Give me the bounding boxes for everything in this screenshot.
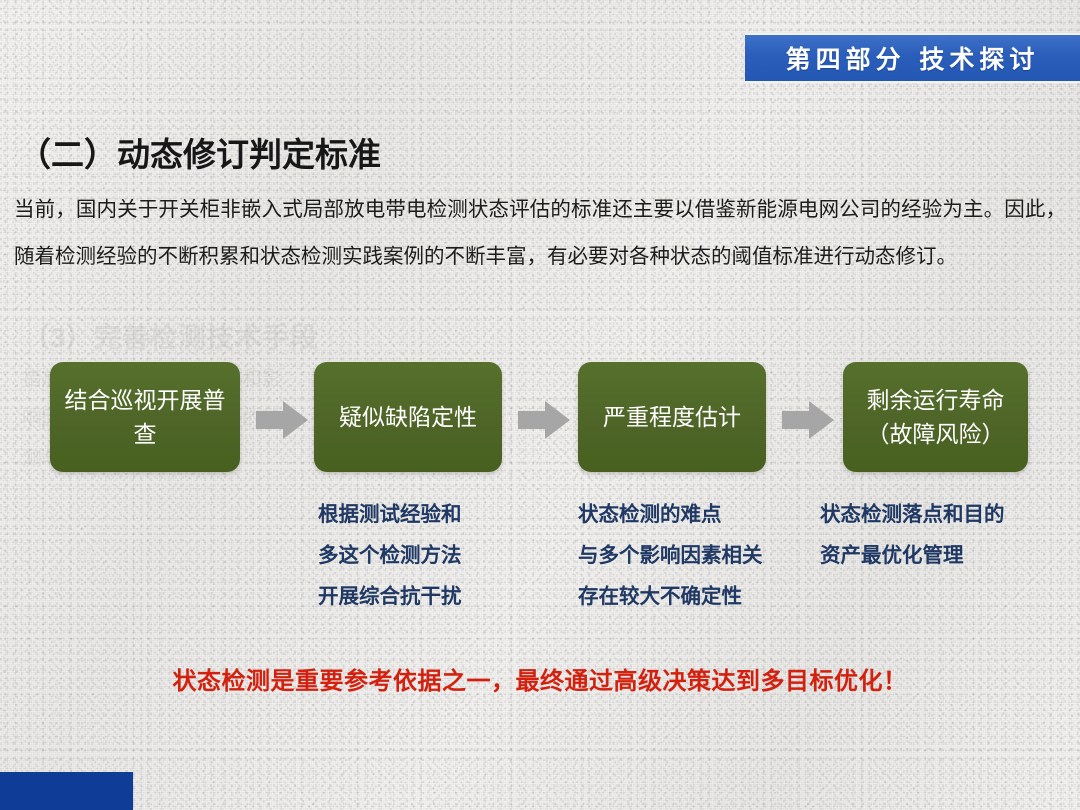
right-arrow-icon xyxy=(782,400,834,440)
flow-step-box-1: 结合巡视开展普查 xyxy=(50,362,240,472)
flow-step-box-2: 疑似缺陷定性 xyxy=(314,362,502,472)
flow-step-box-4: 剩余运行寿命（故障风险） xyxy=(843,362,1028,472)
slide-canvas: （3）完善检测技术手段 措施：积极推进检测技术和影 响因素的研究，形成完善的检 … xyxy=(0,0,1080,810)
flow-step-caption-2: 状态检测的难点与多个影响因素相关存在较大不确定性 xyxy=(578,494,763,617)
flow-step-box-3: 严重程度估计 xyxy=(578,362,766,472)
footer-accent-block xyxy=(0,772,133,810)
flow-step-label-2: 疑似缺陷定性 xyxy=(339,400,477,434)
right-arrow-icon xyxy=(518,400,570,440)
flow-step-label-1: 结合巡视开展普查 xyxy=(58,383,232,451)
conclusion-statement: 状态检测是重要参考依据之一，最终通过高级决策达到多目标优化！ xyxy=(0,661,1080,696)
flow-step-label-4: 剩余运行寿命（故障风险） xyxy=(851,383,1020,451)
flow-step-label-3: 严重程度估计 xyxy=(603,400,741,434)
flow-step-caption-3: 状态检测落点和目的资产最优化管理 xyxy=(820,494,1005,576)
right-arrow-icon xyxy=(256,400,308,440)
flow-step-caption-1: 根据测试经验和多这个检测方法开展综合抗干扰 xyxy=(318,494,462,617)
